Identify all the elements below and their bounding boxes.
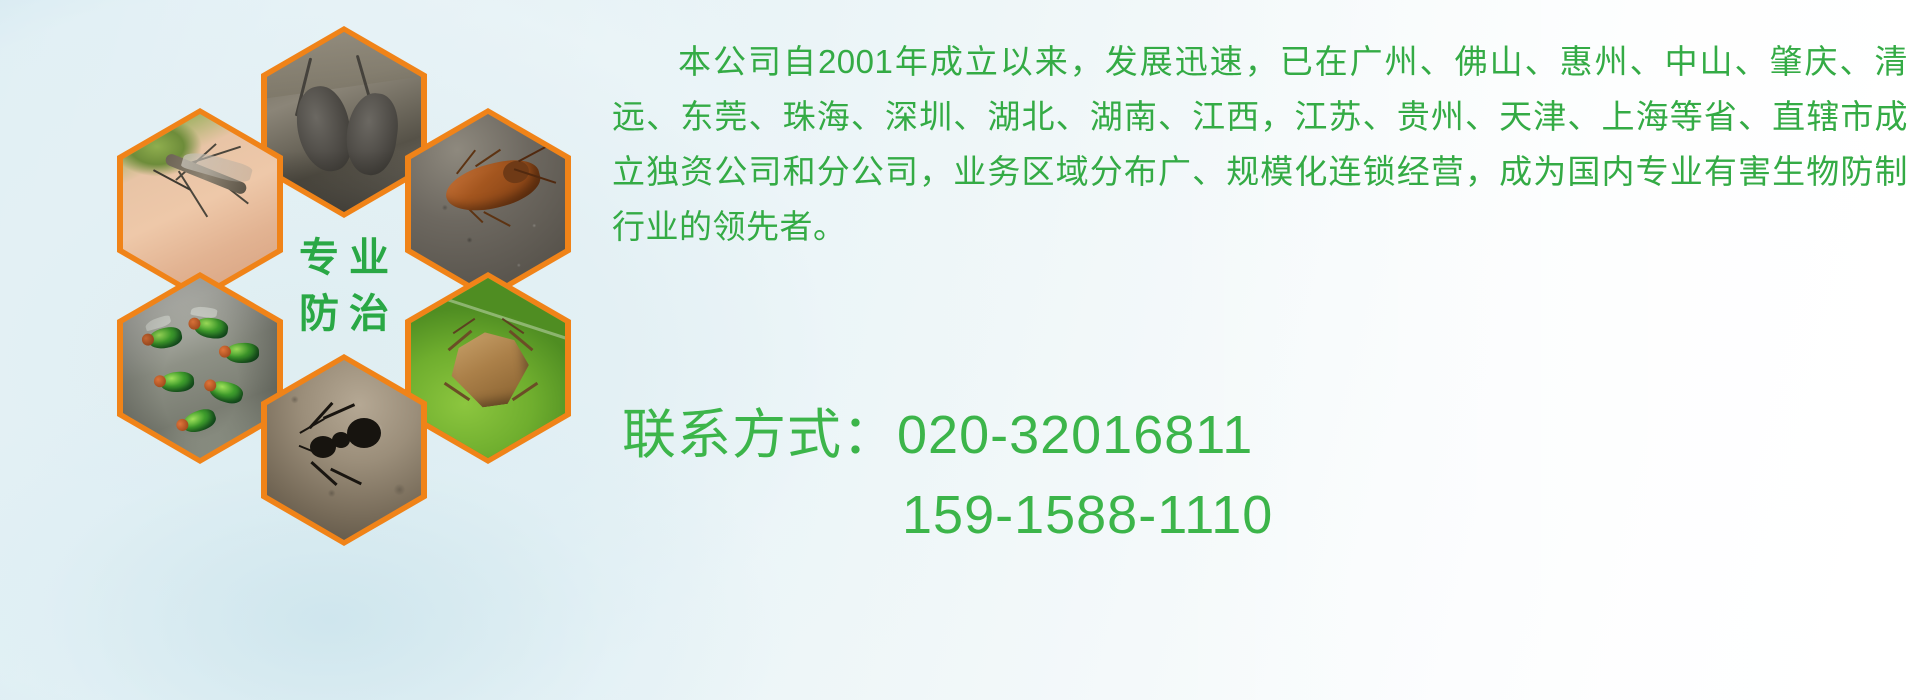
hex-inner	[267, 360, 421, 540]
ant-photo	[267, 360, 421, 540]
stinkbug-photo	[411, 278, 565, 458]
contact-line-primary: 联系方式：020-32016811	[612, 395, 1908, 475]
center-text-line-1: 专业	[289, 238, 399, 278]
hex-tile-mosquito	[117, 108, 283, 300]
hex-tile-flies	[117, 272, 283, 464]
hex-tile-ant	[261, 354, 427, 546]
cockroach-photo	[411, 114, 565, 294]
hex-tile-stinkbug	[405, 272, 571, 464]
hex-tile-center-text: 专业 防治	[261, 190, 427, 382]
promo-banner: 专业 防治	[0, 0, 1920, 700]
hex-inner	[123, 114, 277, 294]
company-intro-paragraph: 本公司自2001年成立以来，发展迅速，已在广州、佛山、惠州、中山、肇庆、清远、东…	[612, 34, 1908, 254]
contact-line-secondary: 159-1588-1110	[612, 475, 1908, 555]
hex-inner	[267, 32, 421, 212]
hex-inner	[411, 278, 565, 458]
mosquito-photo	[123, 114, 277, 294]
banner-content: 本公司自2001年成立以来，发展迅速，已在广州、佛山、惠州、中山、肇庆、清远、东…	[612, 0, 1912, 700]
company-intro: 本公司自2001年成立以来，发展迅速，已在广州、佛山、惠州、中山、肇庆、清远、东…	[612, 34, 1908, 254]
hex-inner	[411, 114, 565, 294]
hexagon-photo-cluster: 专业 防治	[95, 10, 595, 570]
contact-block: 联系方式：020-32016811 159-1588-1110	[612, 395, 1908, 555]
hex-tile-cockroach	[405, 108, 571, 300]
center-text-line-2: 防治	[289, 294, 399, 334]
rats-photo	[267, 32, 421, 212]
hex-inner	[123, 278, 277, 458]
flies-photo	[123, 278, 277, 458]
